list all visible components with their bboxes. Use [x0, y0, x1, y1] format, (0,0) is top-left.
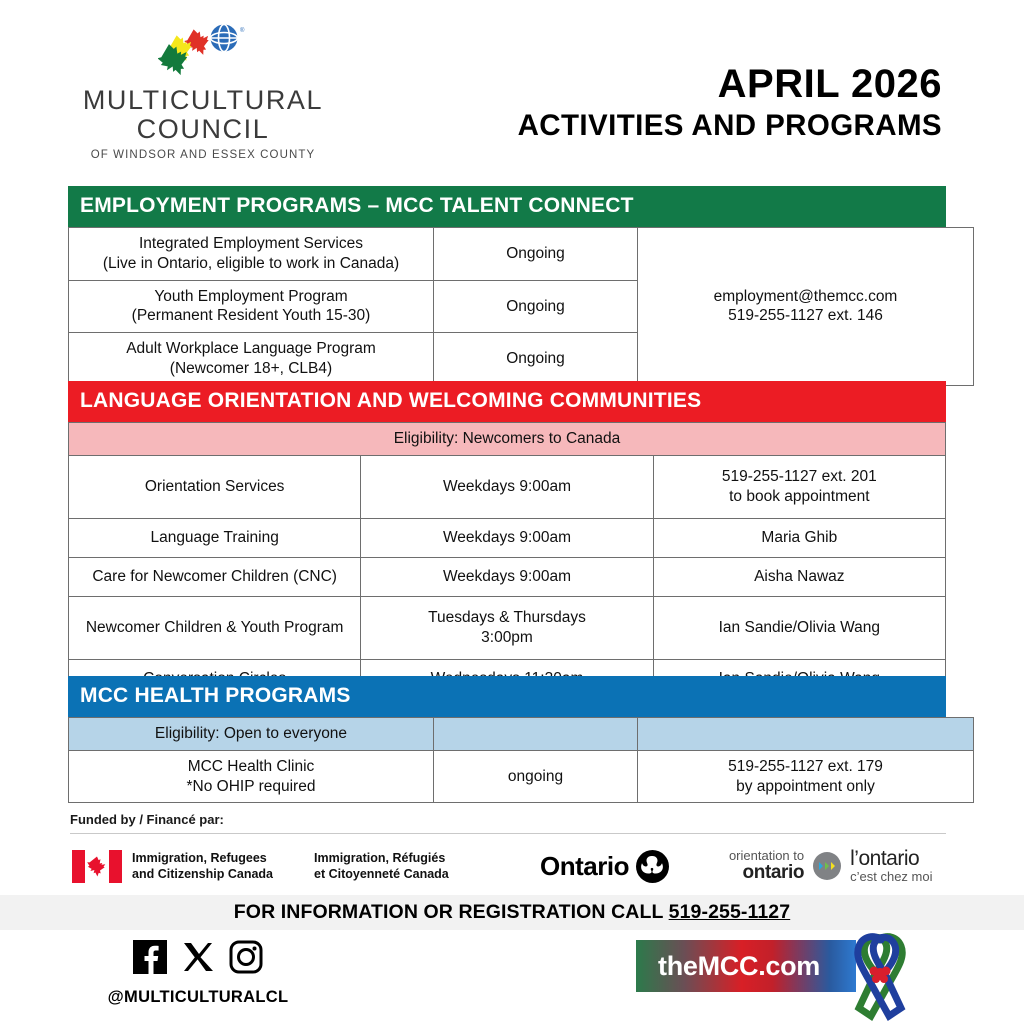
eligibility-note: Eligibility: Newcomers to Canada — [69, 423, 946, 456]
contact-note: to book appointment — [658, 487, 941, 507]
table-employment: Integrated Employment Services (Live in … — [68, 227, 974, 386]
cell-contact: Aisha Nawaz — [653, 557, 945, 596]
orientation-to-ontario-logo: orientation to ontario l’ontario c’est c… — [729, 848, 933, 884]
table-health: Eligibility: Open to everyone MCC Health… — [68, 717, 974, 803]
trillium-icon — [636, 850, 669, 883]
cell-schedule: Weekdays 9:00am — [361, 557, 653, 596]
table-language: Eligibility: Newcomers to Canada Orienta… — [68, 422, 946, 699]
cell-schedule: Ongoing — [434, 280, 638, 333]
mcc-maple-globe-icon: ® — [158, 22, 248, 80]
cell-schedule: Tuesdays & Thursdays 3:00pm — [361, 596, 653, 659]
program-line-2: (Newcomer 18+, CLB4) — [73, 359, 429, 379]
cell-program: Youth Employment Program (Permanent Resi… — [69, 280, 434, 333]
program-line-1: Integrated Employment Services — [73, 234, 429, 254]
page-title: APRIL 2026 ACTIVITIES AND PROGRAMS — [518, 62, 942, 144]
mcc-website-badge[interactable]: theMCC.com — [636, 940, 856, 992]
program-line-1: MCC Health Clinic — [73, 757, 429, 777]
page-header: ® MULTICULTURAL COUNCIL OF WINDSOR AND E… — [0, 0, 1024, 170]
contact-phone: 519-255-1127 ext. 179 — [642, 757, 969, 777]
contact-phone: 519-255-1127 ext. 146 — [642, 306, 969, 326]
mcc-logo: ® MULTICULTURAL COUNCIL OF WINDSOR AND E… — [68, 22, 338, 161]
program-line-1: Adult Workplace Language Program — [73, 339, 429, 359]
ircc-en-line-1: Immigration, Refugees — [132, 850, 292, 866]
social-handle: @MULTICULTURALCL — [68, 988, 328, 1007]
logo-line-3: OF WINDSOR AND ESSEX COUNTY — [68, 149, 338, 161]
x-twitter-icon[interactable] — [181, 940, 215, 979]
program-line-1: Youth Employment Program — [73, 287, 429, 307]
table-row: Language Training Weekdays 9:00am Maria … — [69, 518, 946, 557]
funded-by-label: Funded by / Financé par: — [70, 812, 946, 827]
program-line-2: (Live in Ontario, eligible to work in Ca… — [73, 254, 429, 274]
cell-program: Adult Workplace Language Program (Newcom… — [69, 333, 434, 386]
schedule-line-1: Tuesdays & Thursdays — [365, 608, 648, 628]
table-row: MCC Health Clinic *No OHIP required ongo… — [69, 750, 974, 803]
cell-program: Newcomer Children & Youth Program — [69, 596, 361, 659]
schedule-line-2: 3:00pm — [365, 628, 648, 648]
funders-strip: Funded by / Financé par: Immigration, Re… — [70, 812, 946, 898]
cell-program: Orientation Services — [69, 455, 361, 518]
ircc-fr-line-1: Immigration, Réfugiés — [314, 850, 474, 866]
oto-line-4: c’est chez moi — [850, 870, 932, 884]
eligibility-spacer-2 — [638, 718, 974, 751]
cell-contact: 519-255-1127 ext. 179 by appointment onl… — [638, 750, 974, 803]
eligibility-note: Eligibility: Open to everyone — [69, 718, 434, 751]
logo-line-1: MULTICULTURAL — [68, 86, 338, 114]
table-row: Newcomer Children & Youth Program Tuesda… — [69, 596, 946, 659]
awareness-ribbon-icon — [845, 930, 915, 1022]
cell-program: Integrated Employment Services (Live in … — [69, 228, 434, 281]
logo-line-2: COUNCIL — [68, 114, 338, 144]
contact-email[interactable]: employment@themcc.com — [642, 287, 969, 307]
info-bar: FOR INFORMATION OR REGISTRATION CALL 519… — [0, 895, 1024, 930]
cell-contact: employment@themcc.com 519-255-1127 ext. … — [638, 228, 974, 386]
oto-line-3: l’ontario — [850, 848, 932, 870]
title-month-year: APRIL 2026 — [518, 62, 942, 107]
info-bar-text: FOR INFORMATION OR REGISTRATION CALL 519… — [234, 901, 790, 924]
cell-schedule: Ongoing — [434, 333, 638, 386]
section-heading-language: LANGUAGE ORIENTATION AND WELCOMING COMMU… — [68, 381, 946, 422]
svg-text:®: ® — [240, 27, 245, 34]
instagram-icon[interactable] — [229, 940, 263, 979]
section-heading-employment: EMPLOYMENT PROGRAMS – MCC TALENT CONNECT — [68, 186, 946, 227]
section-heading-health: MCC HEALTH PROGRAMS — [68, 676, 946, 717]
cell-schedule: Weekdays 9:00am — [361, 455, 653, 518]
program-line-2: (Permanent Resident Youth 15-30) — [73, 306, 429, 326]
contact-phone: 519-255-1127 ext. 201 — [658, 467, 941, 487]
info-bar-label: FOR INFORMATION OR REGISTRATION CALL — [234, 901, 669, 923]
oto-line-1: orientation to — [729, 849, 804, 863]
website-url: theMCC.com — [658, 951, 820, 982]
ircc-en-line-2: and Citizenship Canada — [132, 866, 292, 882]
cell-contact: Ian Sandie/Olivia Wang — [653, 596, 945, 659]
cell-program: Language Training — [69, 518, 361, 557]
section-language: LANGUAGE ORIENTATION AND WELCOMING COMMU… — [68, 381, 946, 699]
ircc-logo: Immigration, Refugees and Citizenship Ca… — [72, 850, 474, 883]
cell-schedule: Weekdays 9:00am — [361, 518, 653, 557]
info-bar-phone[interactable]: 519-255-1127 — [669, 901, 791, 923]
title-subtitle: ACTIVITIES AND PROGRAMS — [518, 109, 942, 144]
cell-contact: Maria Ghib — [653, 518, 945, 557]
ircc-fr-line-2: et Citoyenneté Canada — [314, 866, 474, 882]
cell-program: MCC Health Clinic *No OHIP required — [69, 750, 434, 803]
oto-line-2: ontario — [729, 863, 804, 883]
cell-program: Care for Newcomer Children (CNC) — [69, 557, 361, 596]
table-row: Orientation Services Weekdays 9:00am 519… — [69, 455, 946, 518]
eligibility-spacer-1 — [434, 718, 638, 751]
canada-flag-icon — [72, 850, 122, 883]
ontario-wordmark: Ontario — [540, 851, 629, 882]
section-employment: EMPLOYMENT PROGRAMS – MCC TALENT CONNECT… — [68, 186, 946, 386]
cell-contact: 519-255-1127 ext. 201 to book appointmen… — [653, 455, 945, 518]
program-line-2: *No OHIP required — [73, 777, 429, 797]
eligibility-row: Eligibility: Newcomers to Canada — [69, 423, 946, 456]
section-health: MCC HEALTH PROGRAMS Eligibility: Open to… — [68, 676, 946, 803]
eligibility-row: Eligibility: Open to everyone — [69, 718, 974, 751]
ircc-text-fr: Immigration, Réfugiés et Citoyenneté Can… — [314, 850, 474, 883]
contact-note: by appointment only — [642, 777, 969, 797]
cell-schedule: ongoing — [434, 750, 638, 803]
ontario-logo: Ontario — [540, 850, 669, 883]
oto-chevron-icon — [813, 852, 841, 880]
table-row: Integrated Employment Services (Live in … — [69, 228, 974, 281]
cell-schedule: Ongoing — [434, 228, 638, 281]
ircc-text-en: Immigration, Refugees and Citizenship Ca… — [132, 850, 292, 883]
table-row: Care for Newcomer Children (CNC) Weekday… — [69, 557, 946, 596]
social-block: @MULTICULTURALCL — [68, 940, 328, 1007]
facebook-icon[interactable] — [133, 940, 167, 979]
